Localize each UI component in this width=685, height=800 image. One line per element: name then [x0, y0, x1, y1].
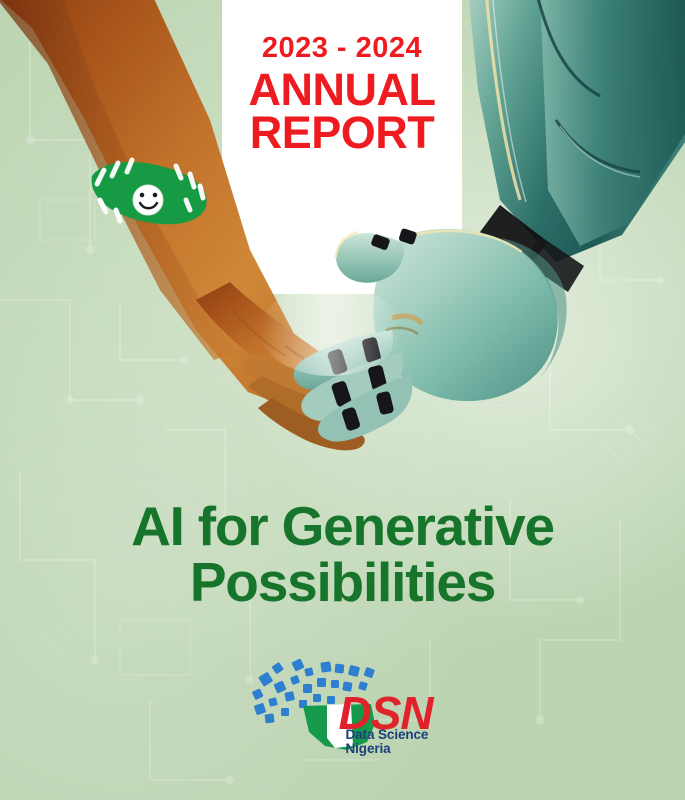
report-years: 2023 - 2024	[222, 34, 462, 63]
beaded-bracelet	[92, 160, 207, 224]
robot-arm	[468, 0, 685, 292]
annual-report-cover: 2023 - 2024 ANNUAL REPORT	[0, 0, 685, 800]
report-title-line1: ANNUAL	[222, 67, 462, 112]
smiley-face-bead	[133, 185, 163, 215]
dsn-logo: DSN Data Science Nigeria	[0, 650, 685, 750]
report-title-line2: REPORT	[222, 110, 462, 155]
cover-headline: AI for Generative Possibilities	[0, 498, 685, 610]
headline-line-1: AI for Generative	[0, 498, 685, 554]
dsn-tagline: Data Science Nigeria	[346, 728, 443, 755]
headline-line-2: Possibilities	[0, 554, 685, 610]
report-title-block: 2023 - 2024 ANNUAL REPORT	[222, 34, 462, 155]
